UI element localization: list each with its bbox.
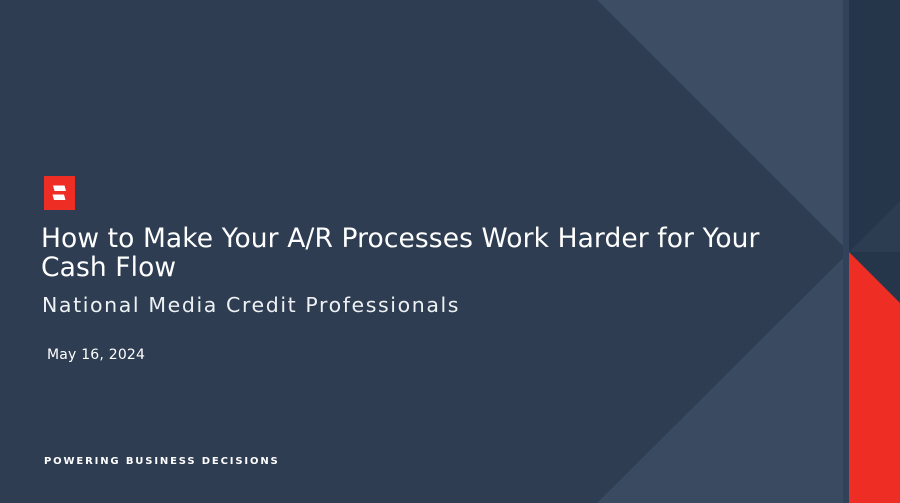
page-title: How to Make Your A/R Processes Work Hard… <box>41 225 771 283</box>
title-slide: How to Make Your A/R Processes Work Hard… <box>0 0 900 503</box>
slide-date: May 16, 2024 <box>47 347 145 363</box>
slide-content: How to Make Your A/R Processes Work Hard… <box>0 0 900 503</box>
brand-logo-mark <box>44 176 75 210</box>
slide-subtitle: National Media Credit Professionals <box>42 293 460 317</box>
brand-logo-glyph-icon <box>44 176 75 210</box>
brand-tagline: POWERING BUSINESS DECISIONS <box>44 456 280 467</box>
